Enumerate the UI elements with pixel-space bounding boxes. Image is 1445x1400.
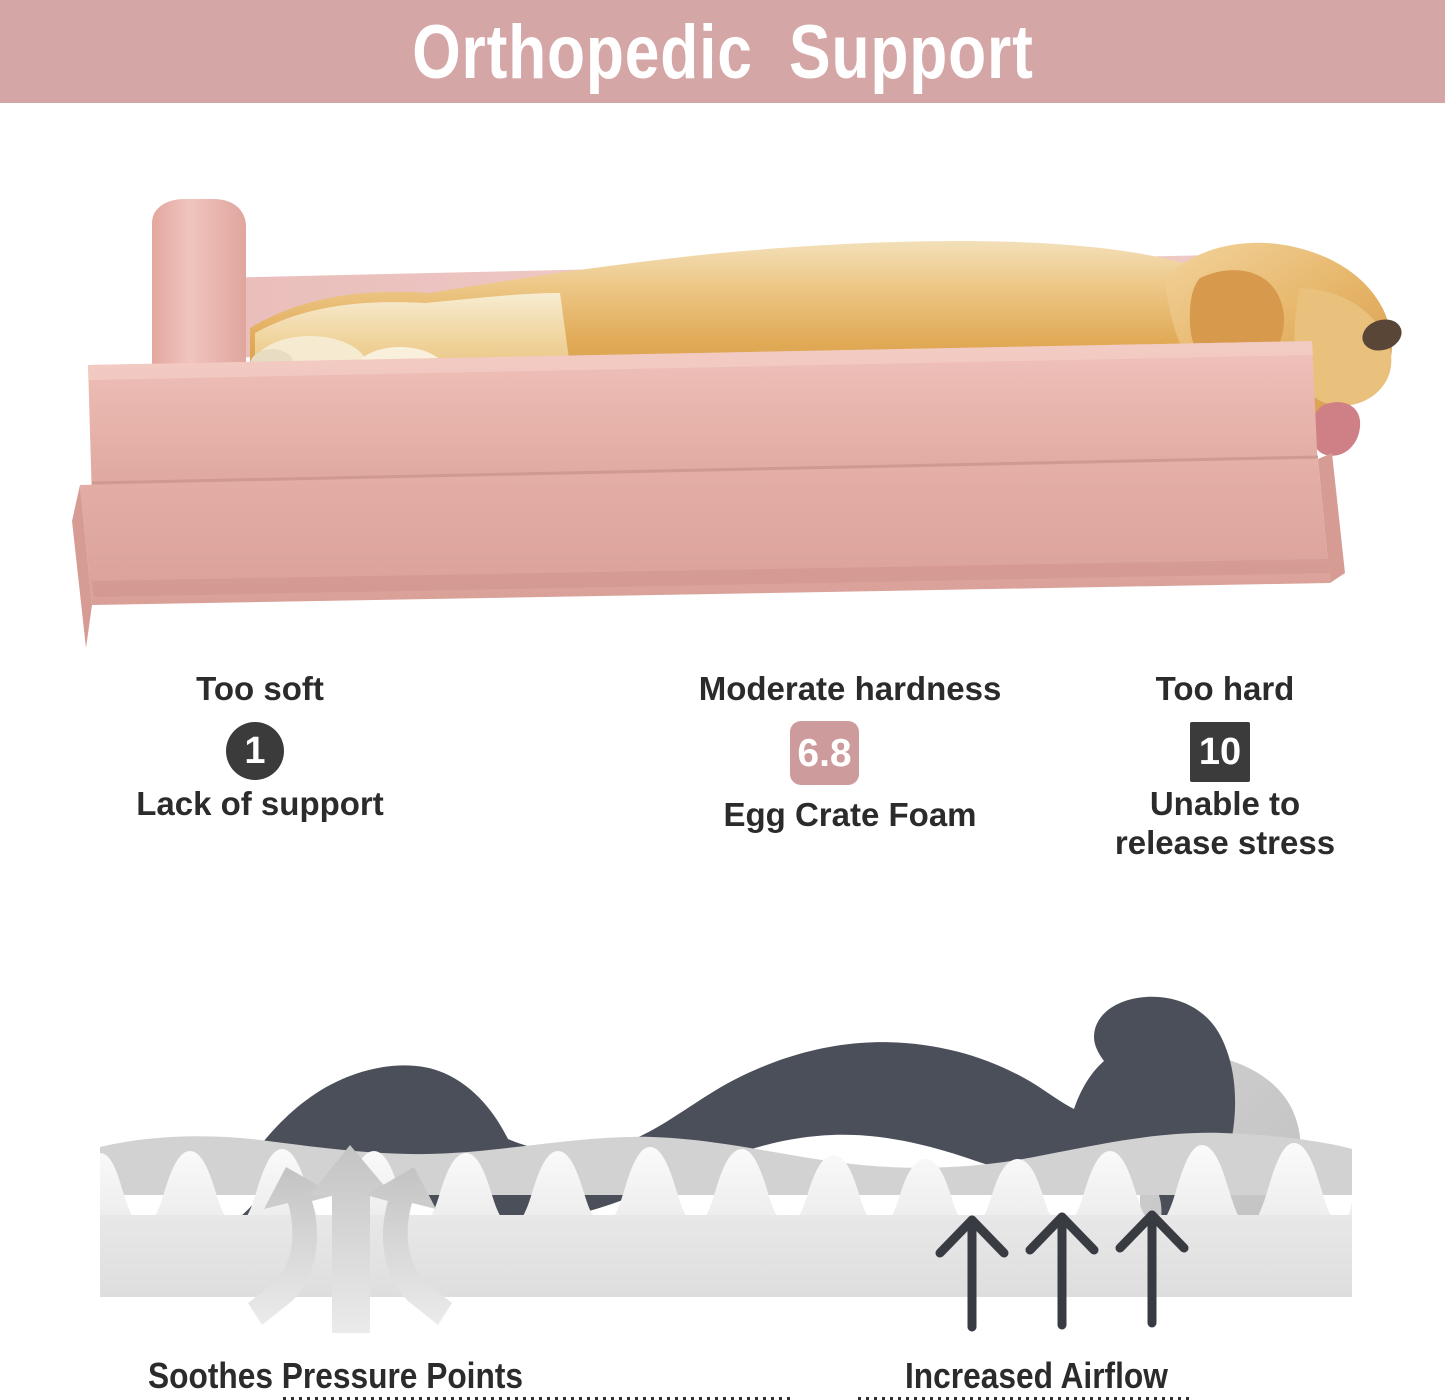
scale-marker-1: 1: [226, 722, 284, 780]
bottom-captions: Soothes Pressure Points Increased Airflo…: [0, 1352, 1445, 1397]
dog-tongue: [1311, 402, 1360, 456]
header-banner: Orthopedic Support: [0, 0, 1445, 103]
hardness-scale: Too soft Lack of support 1 Moderate hard…: [0, 648, 1445, 898]
scale-sublabel-unable-to-release-stress: Unable to release stress: [1095, 785, 1355, 863]
scale-label-moderate-hardness: Moderate hardness: [650, 670, 1050, 709]
scale-sublabel-line1: Unable to: [1150, 785, 1300, 822]
foam-diagram: [0, 895, 1445, 1350]
scale-sublabel-line2: release stress: [1115, 824, 1335, 861]
page-title: Orthopedic Support: [412, 15, 1033, 91]
scale-sublabel-lack-of-support: Lack of support: [110, 785, 410, 824]
scale-marker-6-8: 6.8: [790, 721, 859, 785]
scale-sublabel-egg-crate-foam: Egg Crate Foam: [650, 796, 1050, 835]
product-photo-illustration: [0, 103, 1445, 648]
foam-cross-section-illustration: [0, 895, 1445, 1350]
caption-soothes-pressure-points: Soothes Pressure Points: [148, 1358, 523, 1394]
product-photo: [0, 103, 1445, 648]
caption-increased-airflow: Increased Airflow: [905, 1358, 1168, 1394]
scale-marker-10: 10: [1190, 722, 1250, 782]
scale-label-too-hard: Too hard: [1095, 670, 1355, 709]
scale-label-too-soft: Too soft: [130, 670, 390, 709]
